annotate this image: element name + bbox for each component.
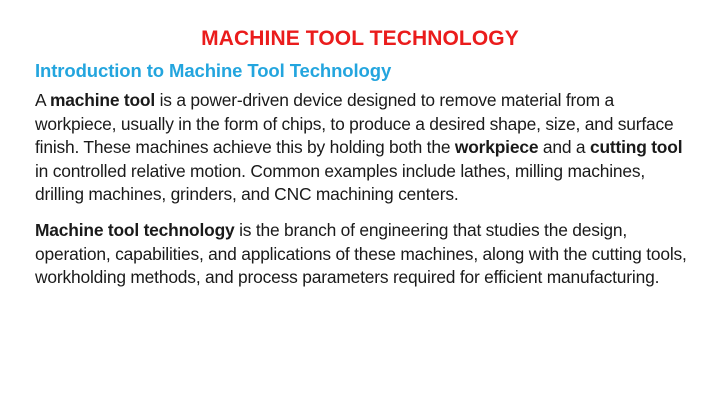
slide-canvas: MACHINE TOOL TECHNOLOGY Introduction to …	[0, 0, 720, 405]
slide-subtitle: Introduction to Machine Tool Technology	[35, 59, 695, 82]
paragraph-definition: A machine tool is a power-driven device …	[35, 89, 697, 207]
paragraph-technology: Machine tool technology is the branch of…	[35, 219, 697, 290]
page-title: MACHINE TOOL TECHNOLOGY	[0, 27, 720, 51]
slide-body: A machine tool is a power-driven device …	[35, 89, 697, 290]
